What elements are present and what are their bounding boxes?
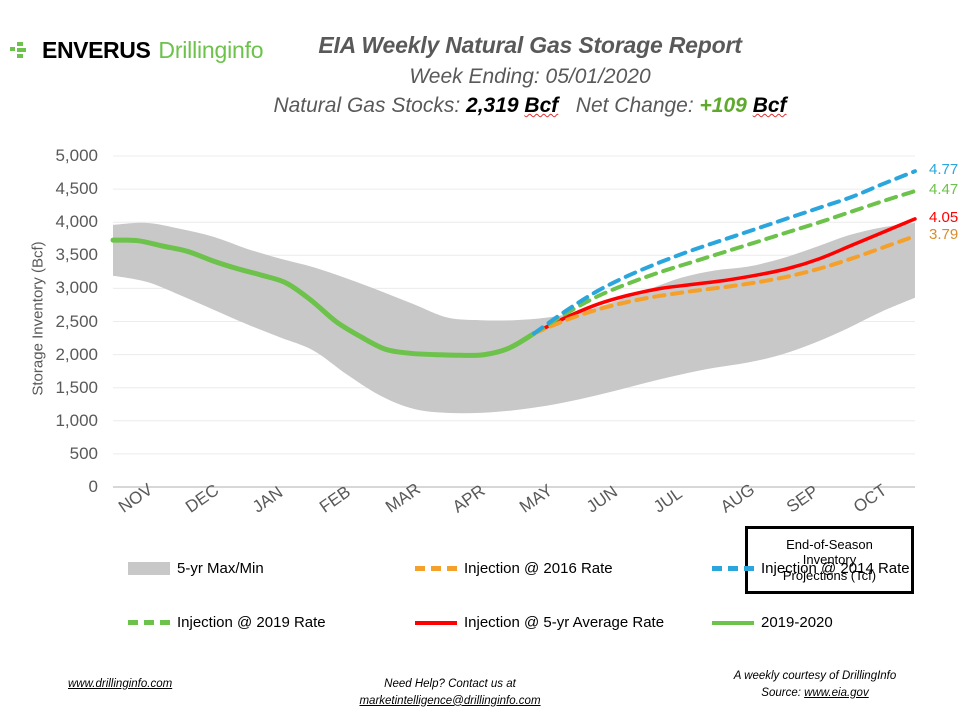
end-of-season-value: 4.77: [929, 161, 958, 178]
y-axis-tick-label: 1,500: [38, 378, 98, 398]
net-change-label: Net Change:: [576, 94, 694, 117]
y-axis-tick-label: 3,000: [38, 278, 98, 298]
legend-label: Injection @ 2016 Rate: [464, 560, 613, 577]
footer-source-line: Source: www.eia.gov: [690, 685, 940, 702]
legend-swatch: [712, 566, 754, 571]
stocks-value: 2,319: [466, 94, 519, 117]
legend-item[interactable]: Injection @ 2014 Rate: [712, 560, 910, 577]
footer-website-link[interactable]: www.drillinginfo.com: [68, 678, 172, 690]
y-axis-tick-label: 2,000: [38, 345, 98, 365]
brand-name-primary: ENVERUS: [42, 37, 150, 64]
net-change-value: +109: [700, 94, 747, 117]
footer-source: A weekly courtesy of DrillingInfo Source…: [690, 668, 940, 701]
legend-swatch: [415, 621, 457, 625]
legend-item[interactable]: Injection @ 2016 Rate: [415, 560, 613, 577]
legend-item[interactable]: 5-yr Max/Min: [128, 560, 264, 577]
legend-item[interactable]: 2019-2020: [712, 614, 833, 631]
legend-swatch: [712, 621, 754, 625]
legend-label: Injection @ 5-yr Average Rate: [464, 614, 664, 631]
y-axis-ticks: 5,0004,5004,0003,5003,0002,5002,0001,500…: [36, 140, 98, 560]
legend-item[interactable]: Injection @ 2019 Rate: [128, 614, 326, 631]
annotation-line-1: End-of-Season: [786, 537, 873, 552]
legend-label: 2019-2020: [761, 614, 833, 631]
y-axis-tick-label: 4,500: [38, 179, 98, 199]
title-block: EIA Weekly Natural Gas Storage Report We…: [180, 32, 880, 118]
footer-website[interactable]: www.drillinginfo.com: [68, 676, 172, 693]
y-axis-tick-label: 5,000: [38, 146, 98, 166]
y-axis-tick-label: 0: [38, 477, 98, 497]
net-change-unit: Bcf: [753, 94, 787, 117]
stocks-label: Natural Gas Stocks:: [273, 94, 460, 117]
legend-label: Injection @ 2014 Rate: [761, 560, 910, 577]
y-axis-tick-label: 3,500: [38, 245, 98, 265]
storage-chart: Storage Inventory (Bcf) 5,0004,5004,0003…: [0, 140, 971, 560]
page-footer: www.drillinginfo.com Need Help? Contact …: [0, 668, 971, 724]
footer-source-prefix: Source:: [761, 687, 801, 699]
chart-legend: 5-yr Max/MinInjection @ 2016 RateInjecti…: [0, 552, 971, 648]
enverus-logo-mark: [10, 39, 40, 61]
y-axis-tick-label: 1,000: [38, 411, 98, 431]
stocks-unit: Bcf: [524, 94, 558, 117]
legend-item[interactable]: Injection @ 5-yr Average Rate: [415, 614, 664, 631]
five-year-max-min-band: [113, 223, 915, 414]
legend-swatch: [415, 566, 457, 571]
footer-contact-email[interactable]: marketintelligence@drillinginfo.com: [320, 693, 580, 710]
week-ending-value: 05/01/2020: [546, 65, 651, 88]
legend-label: 5-yr Max/Min: [177, 560, 264, 577]
week-ending-label: Week Ending:: [409, 65, 539, 88]
footer-contact-line1: Need Help? Contact us at: [320, 676, 580, 693]
end-of-season-value: 4.47: [929, 181, 958, 198]
page-title: EIA Weekly Natural Gas Storage Report: [180, 32, 880, 59]
y-axis-tick-label: 2,500: [38, 312, 98, 332]
footer-contact: Need Help? Contact us at marketintellige…: [320, 676, 580, 709]
legend-label: Injection @ 2019 Rate: [177, 614, 326, 631]
footer-source-link[interactable]: www.eia.gov: [804, 687, 869, 699]
y-axis-tick-label: 4,000: [38, 212, 98, 232]
footer-courtesy: A weekly courtesy of DrillingInfo: [690, 668, 940, 685]
y-axis-tick-label: 500: [38, 444, 98, 464]
end-of-season-value: 3.79: [929, 226, 958, 243]
end-of-season-value: 4.05: [929, 209, 958, 226]
legend-swatch: [128, 620, 170, 625]
legend-swatch: [128, 562, 170, 575]
stats-line: Natural Gas Stocks: 2,319 Bcf Net Change…: [180, 94, 880, 118]
week-ending-line: Week Ending: 05/01/2020: [180, 65, 880, 89]
